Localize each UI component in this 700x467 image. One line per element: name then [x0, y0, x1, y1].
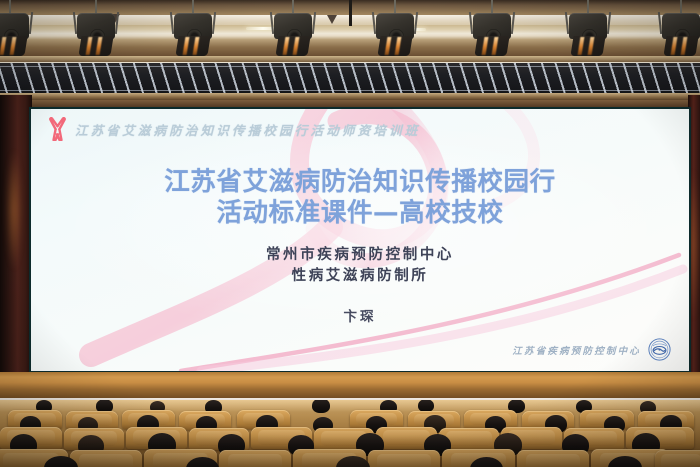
- ceiling-cone-fixture: [327, 15, 337, 24]
- rig-drop-rod: [349, 0, 352, 26]
- stage-spotlight-icon: [0, 0, 36, 54]
- presentation-slide[interactable]: 江苏省艾滋病防治知识传播校园行活动师资培训班 江苏省艾滋病防治知识传播校园行 活…: [31, 109, 689, 371]
- pink-ribbon-decoration: [31, 109, 689, 371]
- audience-seat: [70, 450, 142, 467]
- audience-seating: [0, 400, 700, 467]
- grille-bottom-trim: [0, 93, 700, 100]
- slide-title: 江苏省艾滋病防治知识传播校园行 活动标准课件—高校技校: [31, 167, 689, 229]
- stage-spotlight-icon: [70, 0, 122, 54]
- slide-author: 卞琛: [31, 305, 689, 325]
- slide-subtitle: 常州市疾病预防控制中心 性病艾滋病防制所: [31, 245, 689, 287]
- stage-spotlight-icon: [562, 0, 614, 54]
- wall-light-glow-left: [6, 150, 22, 270]
- audience-seat: [655, 450, 700, 467]
- stage-spotlight-icon: [466, 0, 518, 54]
- slide-footer: 江苏省疾病预防控制中心: [512, 338, 671, 361]
- audience-seat: [517, 450, 589, 467]
- acoustic-grille-panel: [0, 63, 700, 95]
- projection-screen-frame: 江苏省艾滋病防治知识传播校园行活动师资培训班 江苏省艾滋病防治知识传播校园行 活…: [29, 107, 691, 373]
- stage-spotlight-icon: [167, 0, 219, 54]
- auditorium-scene: 江苏省艾滋病防治知识传播校园行活动师资培训班 江苏省艾滋病防治知识传播校园行 活…: [0, 0, 700, 467]
- slide-footer-organization: 江苏省疾病预防控制中心: [512, 343, 641, 357]
- slide-title-line2: 活动标准课件—高校技校: [31, 198, 689, 229]
- audience-member: [312, 400, 330, 413]
- aids-awareness-ribbon-icon: [49, 117, 66, 141]
- stage-front-panel: [0, 372, 700, 400]
- slide-title-line1: 江苏省艾滋病防治知识传播校园行: [164, 167, 556, 197]
- slide-subtitle-line1: 常州市疾病预防控制中心: [31, 245, 689, 266]
- audience-seat: [219, 450, 291, 467]
- stage-spotlight-icon: [267, 0, 319, 54]
- circular-seal-icon: [648, 338, 671, 361]
- slide-header: 江苏省艾滋病防治知识传播校园行活动师资培训班: [49, 117, 420, 141]
- audience-seat: [368, 450, 440, 467]
- slide-header-text: 江苏省艾滋病防治知识传播校园行活动师资培训班: [75, 120, 420, 139]
- slide-subtitle-line2: 性病艾滋病防制所: [31, 266, 689, 287]
- stage-spotlight-icon: [655, 0, 700, 54]
- stage-spotlight-icon: [369, 0, 421, 54]
